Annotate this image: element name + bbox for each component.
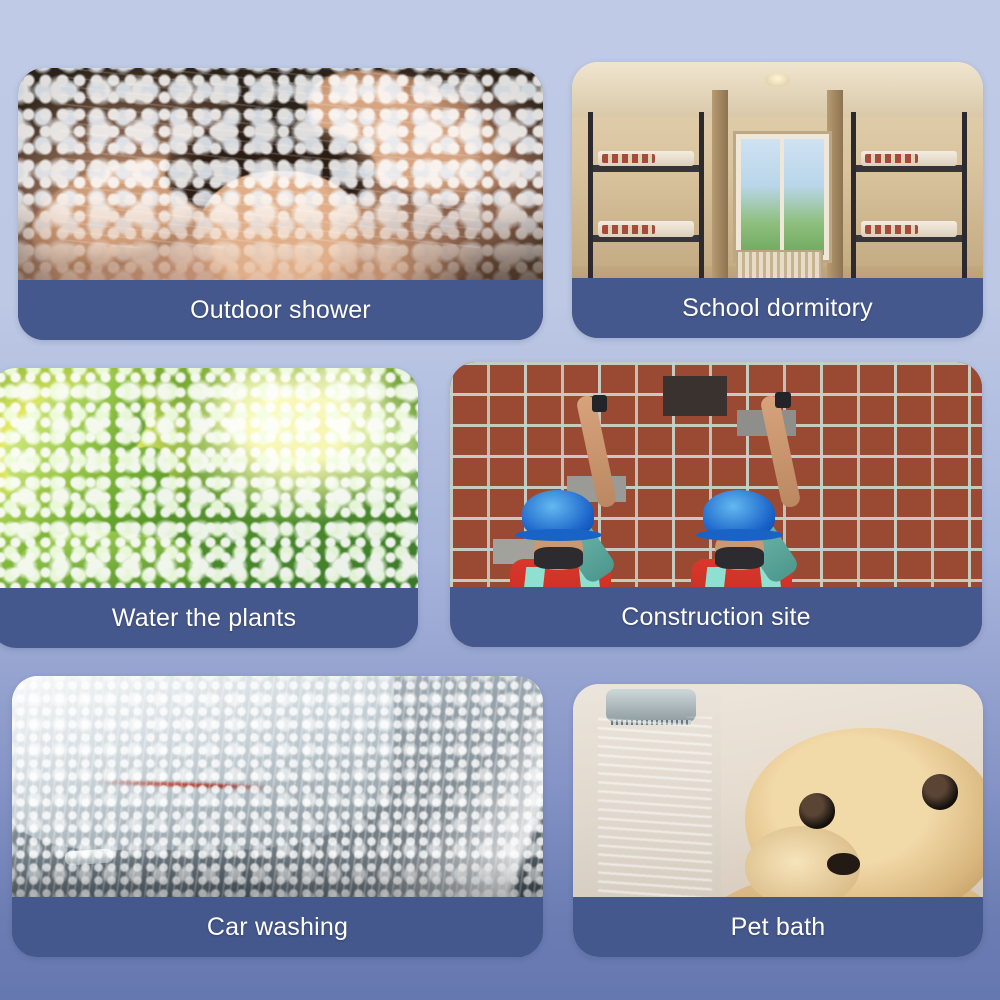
scenario-card-car-washing[interactable]: Car washing (12, 676, 543, 957)
scenario-card-water-the-plants[interactable]: Water the plants (0, 368, 418, 648)
scenario-caption: Outdoor shower (18, 280, 543, 340)
dog-eye (799, 793, 836, 828)
dog-eye (922, 774, 959, 809)
dorm-blanket-lower (602, 225, 655, 234)
dorm-blanket-upper (865, 154, 918, 163)
dark-brick (663, 376, 727, 416)
dog-nose (827, 853, 860, 875)
worker-tool (592, 395, 607, 411)
dorm-blanket-upper (602, 154, 655, 163)
usage-scenario-gallery: Outdoor shower School dormi (0, 0, 1000, 1000)
dorm-blanket-lower (865, 225, 918, 234)
scenario-caption: Water the plants (0, 588, 418, 648)
worker-face-mask (715, 547, 764, 569)
scenario-caption: School dormitory (572, 278, 983, 338)
scenario-card-construction-site[interactable]: Construction site (450, 362, 982, 647)
dorm-column-right (827, 90, 843, 300)
scenario-caption: Pet bath (573, 897, 983, 957)
dorm-bunk-bed-right (851, 112, 966, 289)
scenario-card-pet-bath[interactable]: Pet bath (573, 684, 983, 957)
scenario-caption: Construction site (450, 587, 982, 647)
dorm-bunk-bed-left (588, 112, 703, 289)
dorm-ceiling-lamp (765, 73, 790, 87)
scenario-card-school-dormitory[interactable]: School dormitory (572, 62, 983, 338)
scenario-caption: Car washing (12, 897, 543, 957)
dorm-column-left (712, 90, 728, 300)
blue-hard-hat-icon (522, 490, 595, 537)
worker-face-mask (534, 547, 583, 569)
blue-hard-hat-icon (703, 490, 776, 537)
worker-tool (775, 392, 790, 408)
dorm-ceiling (572, 62, 983, 117)
scenario-card-outdoor-shower[interactable]: Outdoor shower (18, 68, 543, 340)
dorm-window (736, 134, 828, 260)
